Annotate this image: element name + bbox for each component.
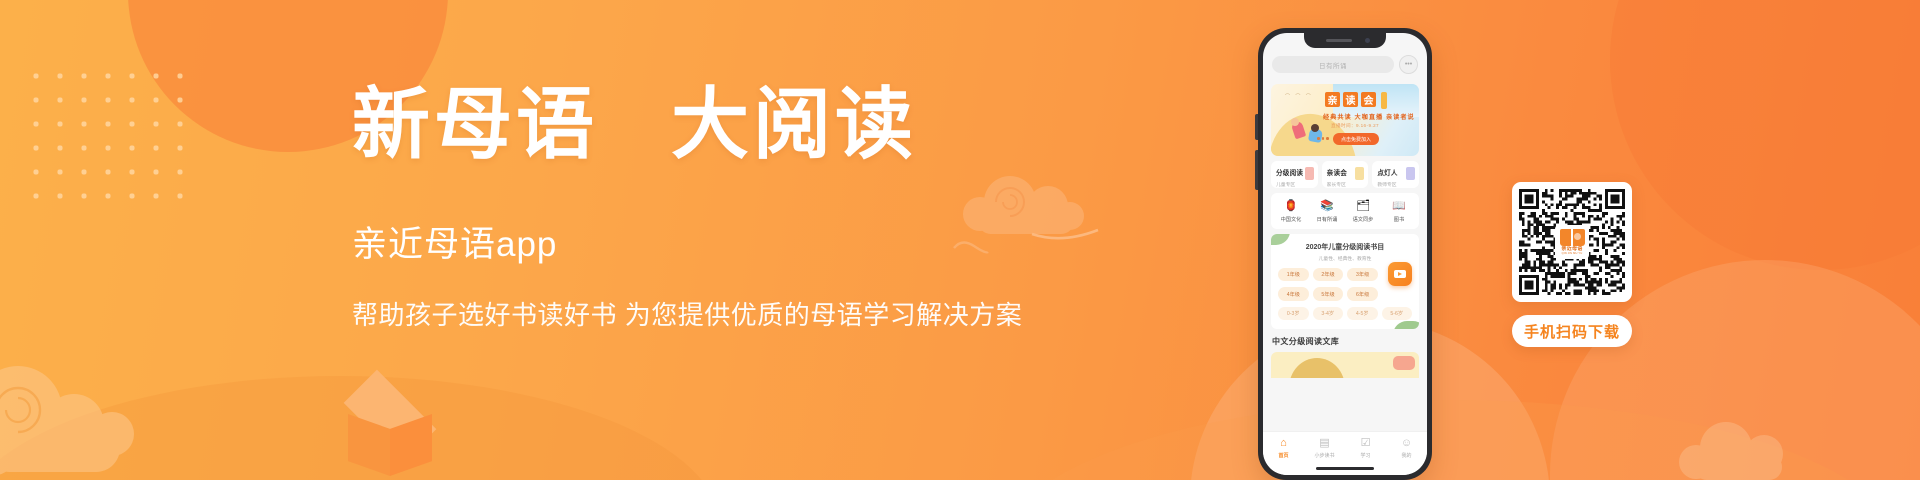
birds-icon: ⌒ ⌒ ⌒ — [1285, 93, 1313, 100]
tab-label: 学习 — [1345, 452, 1386, 459]
promo-title-char: 读 — [1343, 92, 1358, 107]
category-cards: 分级阅读 儿童专区 亲读会 家长专区 点灯人 教师专区 — [1271, 161, 1419, 188]
quick-link-label: 语文同步 — [1345, 216, 1381, 223]
phone-mockup: 日有所诵 ••• ⌒ ⌒ ⌒ 亲 读 会 经典共读 大咖直播 亲读者 — [1258, 28, 1432, 480]
library-title: 中文分级阅读文库 — [1272, 336, 1418, 347]
tab-mine[interactable]: ☺ 我的 — [1386, 437, 1427, 459]
headline-part-2: 大阅读 — [671, 81, 917, 168]
brand-pinyin: QIN JIN MU YU — [1562, 253, 1583, 256]
carousel-dots[interactable] — [1317, 137, 1329, 140]
decor-dot-grid — [22, 62, 190, 212]
tagline: 帮助孩子选好书读好书 为您提供优质的母语学习解决方案 — [352, 295, 1032, 332]
tab-label: 我的 — [1386, 452, 1427, 459]
promo-time: 直播时间：9.16-9.27 — [1331, 123, 1379, 129]
tab-label: 首页 — [1263, 452, 1304, 459]
promo-card[interactable]: ⌒ ⌒ ⌒ 亲 读 会 经典共读 大咖直播 亲读者说 直播时间：9.16-9.2… — [1271, 84, 1419, 156]
decor-hill-right — [1000, 400, 1900, 480]
open-book-icon — [1560, 229, 1585, 246]
quick-link-chinese-culture[interactable]: 🏮 中国文化 — [1273, 200, 1309, 223]
home-icon: ⌂ — [1263, 437, 1304, 450]
grade-chip[interactable]: 5年级 — [1313, 287, 1344, 300]
promo-subtitle: 经典共读 大咖直播 亲读者说 — [1323, 112, 1415, 121]
tab-study[interactable]: ☑ 学习 — [1345, 437, 1386, 459]
tab-label: 小步读书 — [1304, 452, 1345, 459]
grade-chip[interactable]: 4年级 — [1278, 287, 1309, 300]
library-card[interactable] — [1271, 352, 1419, 378]
decor-hill-left — [0, 376, 720, 480]
profile-icon: ☺ — [1386, 437, 1427, 450]
brand-name: 亲近母语 — [1561, 247, 1582, 252]
booklist-card[interactable]: 2020年儿童分级阅读书目 儿童性、经典性、教育性 1年级 2年级 3年级 4年… — [1271, 234, 1419, 329]
daily-recite-icon: 📚 — [1309, 200, 1345, 213]
age-chip[interactable]: 4-5岁 — [1347, 307, 1378, 320]
search-input[interactable]: 日有所诵 — [1272, 56, 1394, 73]
age-chip[interactable]: 0-3岁 — [1278, 307, 1309, 320]
quick-link-label: 日有所诵 — [1309, 216, 1345, 223]
quick-link-chinese-sync[interactable]: 🗂 语文同步 — [1345, 200, 1381, 223]
book-purple-icon — [1406, 167, 1415, 180]
promo-title-char: 会 — [1361, 92, 1376, 107]
quick-links: 🏮 中国文化 📚 日有所诵 🗂 语文同步 📖 图书 — [1271, 193, 1419, 229]
brand-logo: 亲近母语 QIN JIN MU YU — [1555, 225, 1589, 259]
decor-circle-top-right — [1610, 0, 1920, 270]
quick-link-books[interactable]: 📖 图书 — [1381, 200, 1417, 223]
card-graded-reading[interactable]: 分级阅读 儿童专区 — [1271, 161, 1318, 188]
book-red-icon — [1305, 167, 1314, 180]
tab-home[interactable]: ⌂ 首页 — [1263, 437, 1304, 459]
card-sub: 家长专区 — [1327, 181, 1364, 188]
page-title: 新母语 大阅读 — [352, 86, 1032, 164]
chinese-sync-icon: 🗂 — [1345, 200, 1381, 213]
read-icon: ▤ — [1304, 437, 1345, 450]
promo-title: 亲 读 会 — [1325, 92, 1387, 109]
decor-cloud-far-right-icon — [1664, 408, 1834, 480]
card-lamp-lighter[interactable]: 点灯人 教师专区 — [1372, 161, 1419, 188]
grade-chip[interactable]: 2年级 — [1313, 268, 1344, 281]
app-name: 亲近母语app — [352, 216, 1032, 267]
promo-banner: 新母语 大阅读 亲近母语app 帮助孩子选好书读好书 为您提供优质的母语学习解决… — [0, 0, 1920, 480]
promo-title-char: 亲 — [1325, 92, 1340, 107]
app-screen: 日有所诵 ••• ⌒ ⌒ ⌒ 亲 读 会 经典共读 大咖直播 亲读者 — [1263, 33, 1427, 475]
phone-notch — [1304, 33, 1386, 48]
age-chip[interactable]: 5-6岁 — [1382, 307, 1413, 320]
download-button[interactable]: 手机扫码下载 — [1512, 315, 1632, 347]
tab-read[interactable]: ▤ 小步读书 — [1304, 437, 1345, 459]
headline-part-1: 新母语 — [352, 81, 598, 168]
quick-link-label: 中国文化 — [1273, 216, 1309, 223]
quick-link-daily-recite[interactable]: 📚 日有所诵 — [1309, 200, 1345, 223]
leaf-decor-icon — [1393, 321, 1419, 329]
video-play-button[interactable] — [1388, 262, 1412, 286]
card-sub: 教师专区 — [1377, 181, 1414, 188]
grade-chip[interactable]: 6年级 — [1347, 287, 1378, 300]
decor-cube — [330, 370, 450, 480]
message-icon[interactable]: ••• — [1399, 55, 1418, 74]
banner-copy: 新母语 大阅读 亲近母语app 帮助孩子选好书读好书 为您提供优质的母语学习解决… — [352, 86, 1032, 332]
grade-row-2: 4年级 5年级 6年级 — [1278, 287, 1412, 300]
download-block: 亲近母语 QIN JIN MU YU 手机扫码下载 — [1512, 182, 1632, 347]
study-icon: ☑ — [1345, 437, 1386, 450]
grade-chip[interactable]: 3年级 — [1347, 268, 1378, 281]
age-row: 0-3岁 3-4岁 4-5岁 5-6岁 — [1278, 307, 1412, 320]
grade-chip[interactable]: 1年级 — [1278, 268, 1309, 281]
home-indicator — [1316, 467, 1374, 470]
card-sub: 儿童专区 — [1276, 181, 1313, 188]
decor-cloud-left-icon — [0, 358, 176, 480]
books-icon: 📖 — [1381, 200, 1417, 213]
booklist-subtitle: 儿童性、经典性、教育性 — [1278, 255, 1412, 262]
age-chip[interactable]: 3-4岁 — [1313, 307, 1344, 320]
quick-link-label: 图书 — [1381, 216, 1417, 223]
book-yellow-icon — [1355, 167, 1364, 180]
card-reading-club[interactable]: 亲读会 家长专区 — [1322, 161, 1369, 188]
booklist-title: 2020年儿童分级阅读书目 — [1278, 242, 1412, 252]
chinese-culture-icon: 🏮 — [1273, 200, 1309, 213]
promo-join-button[interactable]: 点击免费加入 — [1333, 133, 1379, 145]
qr-code[interactable]: 亲近母语 QIN JIN MU YU — [1512, 182, 1632, 302]
promo-title-tag — [1381, 92, 1387, 109]
